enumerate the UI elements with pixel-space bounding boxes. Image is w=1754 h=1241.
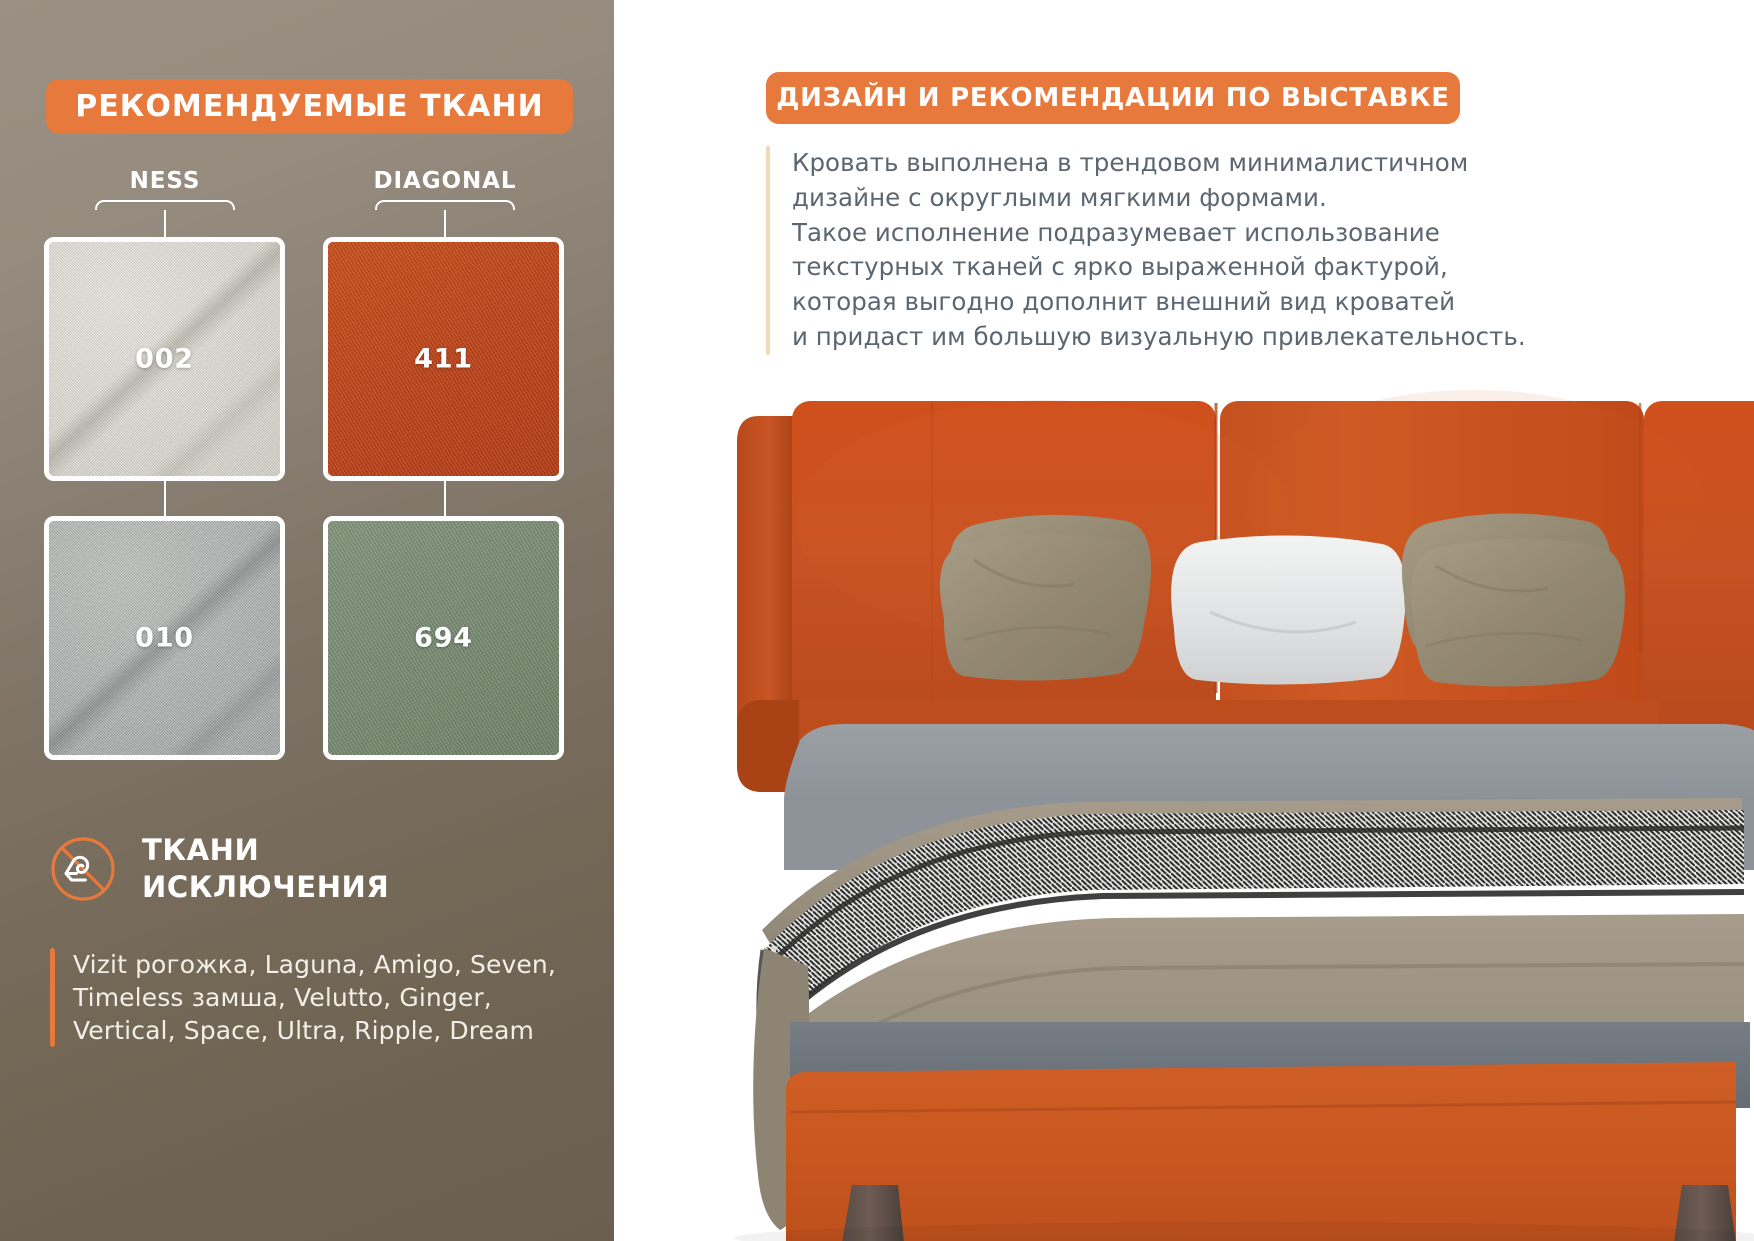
stem-diagonal [444, 210, 446, 238]
slide-root: РЕКОМЕНДУЕМЫЕ ТКАНИ NESS DIAGONAL 002 41… [0, 0, 1754, 1241]
fabric-code-694: 694 [328, 623, 559, 654]
connector-diagonal [444, 480, 446, 518]
fabric-swatch-694[interactable]: 694 [323, 516, 564, 760]
fabric-exclusions-list-wrap: Vizit рогожка, Laguna, Amigo, Seven, Tim… [50, 948, 595, 1047]
bed-product-image [614, 0, 1754, 1241]
pillow-white-center [1171, 535, 1406, 684]
group-label-diagonal: DIAGONAL [340, 168, 550, 194]
exclusions-title-line-1: ТКАНИ [142, 833, 259, 867]
group-label-ness: NESS [60, 168, 270, 194]
connector-ness [164, 480, 166, 518]
recommended-fabrics-panel: РЕКОМЕНДУЕМЫЕ ТКАНИ NESS DIAGONAL 002 41… [0, 0, 614, 1241]
recommended-fabrics-title-badge: РЕКОМЕНДУЕМЫЕ ТКАНИ [46, 79, 573, 134]
exclusions-accent-bar [50, 948, 55, 1047]
pillow-brown-left-front [940, 534, 1147, 681]
fabric-exclusions-title: ТКАНИ ИСКЛЮЧЕНИЯ [142, 832, 389, 906]
fabric-code-010: 010 [49, 623, 280, 654]
fabric-code-002: 002 [49, 344, 280, 375]
pillow-brown-right-front [1411, 538, 1625, 686]
exclusions-title-line-2: ИСКЛЮЧЕНИЯ [142, 870, 389, 904]
no-fabric-icon [50, 836, 116, 902]
bracket-ness [95, 200, 235, 210]
stem-ness [164, 210, 166, 238]
bracket-diagonal [375, 200, 515, 210]
fabric-exclusions-header: ТКАНИ ИСКЛЮЧЕНИЯ [50, 832, 389, 906]
fabric-code-411: 411 [328, 344, 559, 375]
fabric-swatch-002[interactable]: 002 [44, 237, 285, 481]
fabric-swatch-411[interactable]: 411 [323, 237, 564, 481]
fabric-exclusions-list: Vizit рогожка, Laguna, Amigo, Seven, Tim… [73, 948, 556, 1047]
fabric-swatch-010[interactable]: 010 [44, 516, 285, 760]
design-recommendations-panel: ДИЗАЙН И РЕКОМЕНДАЦИИ ПО ВЫСТАВКЕ Кроват… [614, 0, 1754, 1241]
bed-base-front [786, 1062, 1736, 1241]
